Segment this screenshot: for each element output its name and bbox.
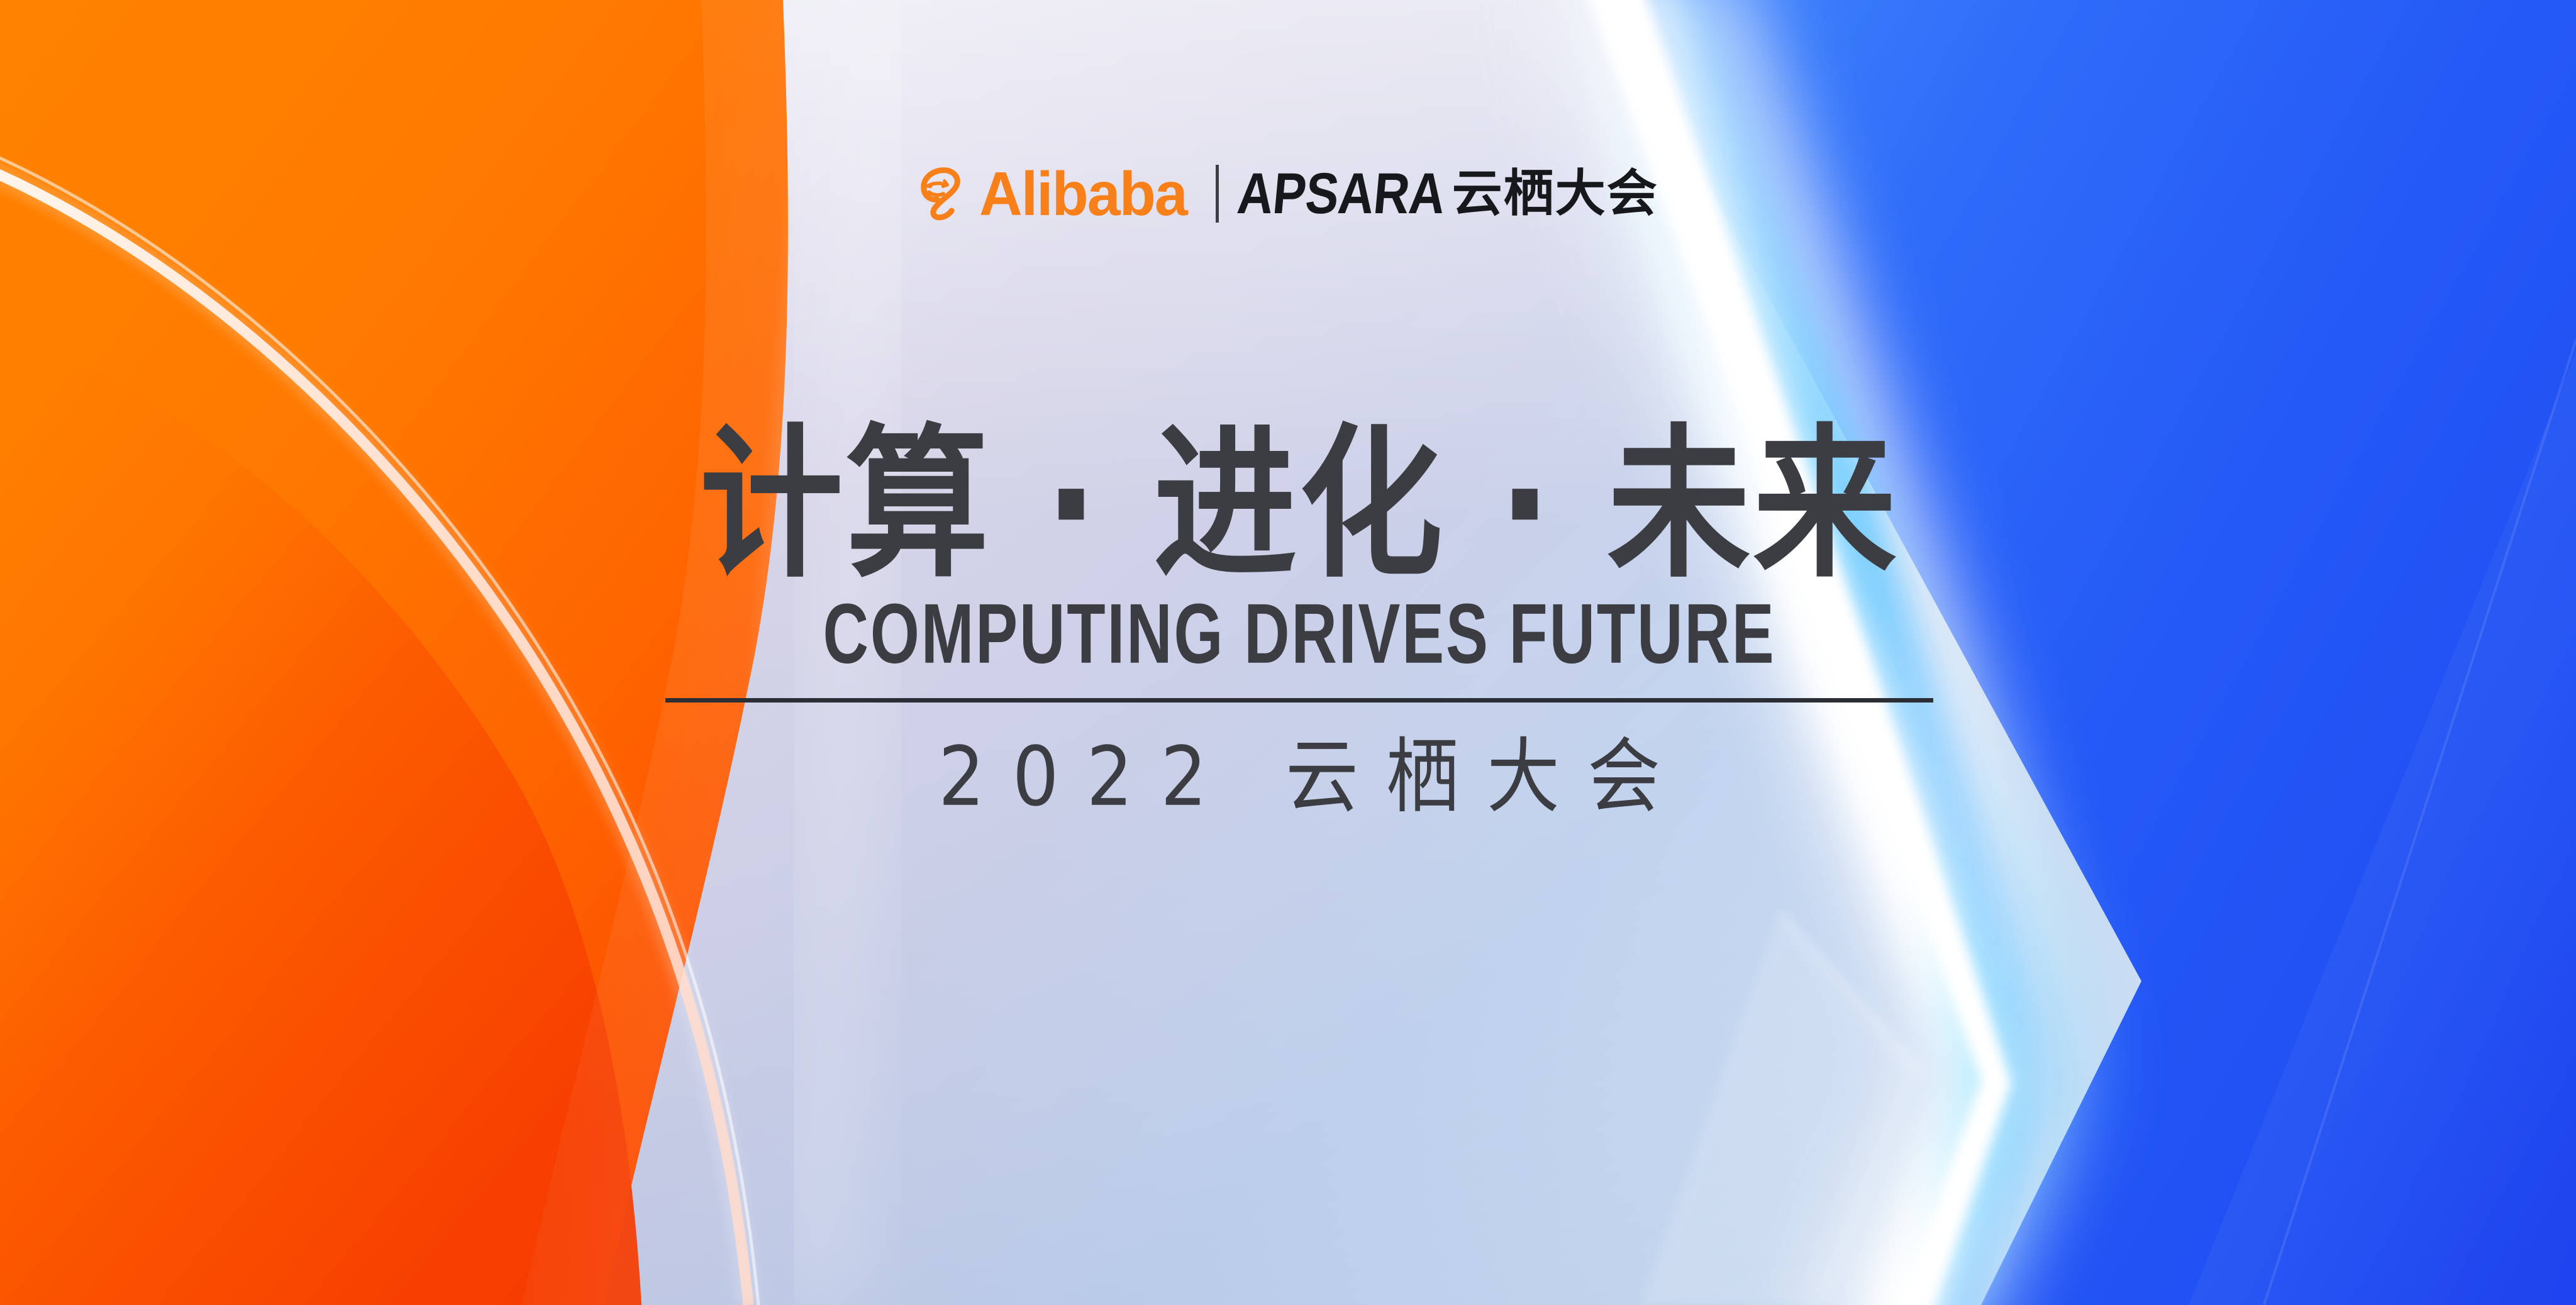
apsara-wordmark: APSARA bbox=[1235, 165, 1447, 223]
poster-content: Alibaba APSARA 云栖大会 计算 · 进化 · 未来 COMPUTI… bbox=[0, 0, 2576, 1305]
brand-lockup: Alibaba APSARA 云栖大会 bbox=[0, 156, 2576, 231]
headline-chinese: 计算 · 进化 · 未来 bbox=[665, 423, 1933, 586]
alibaba-wordmark: Alibaba bbox=[979, 163, 1187, 225]
headline-year-line: 2022 云栖大会 bbox=[665, 730, 1933, 824]
apsara-chinese-name: 云栖大会 bbox=[1452, 169, 1658, 219]
poster-canvas: Alibaba APSARA 云栖大会 计算 · 进化 · 未来 COMPUTI… bbox=[0, 0, 2576, 1305]
headline-english: COMPUTING DRIVES FUTURE bbox=[710, 591, 1889, 676]
alibaba-mascot-icon bbox=[918, 165, 969, 223]
headline-block: 计算 · 进化 · 未来 COMPUTING DRIVES FUTURE 202… bbox=[665, 423, 1933, 814]
headline-divider bbox=[665, 698, 1933, 702]
brand-separator bbox=[1216, 165, 1219, 223]
